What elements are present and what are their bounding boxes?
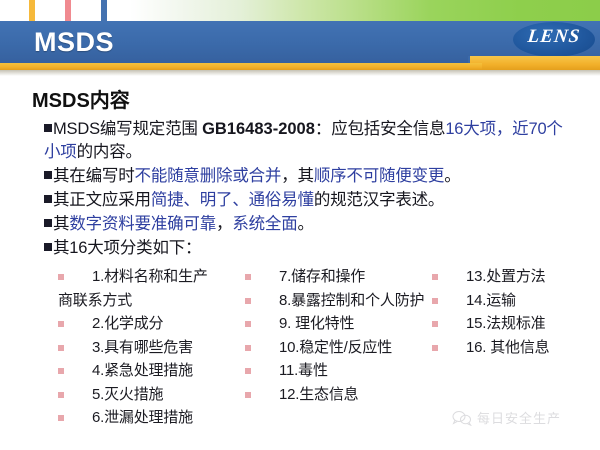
strip-bar-orange [29, 0, 35, 21]
category-column-1: 1.材料名称和生产商联系方式2.化学成分3.具有哪些危害4.紧急处理措施5.灭火… [58, 265, 248, 430]
list-item-label: 15.法规标准 [466, 315, 545, 332]
bullet-square-icon [44, 219, 52, 227]
list-item: 14.运输 [432, 289, 600, 313]
list-item: 12.生态信息 [245, 383, 440, 407]
bullet-accurate-data: 其数字资料要准确可靠，系统全面。 [44, 213, 564, 236]
lens-logo-text: LENS [512, 26, 596, 48]
slide-root: MSDS LENS MSDS内容 MSDS编写规定范围 GB16483-2008… [0, 0, 600, 450]
bullet-text-segment: 其正文应采用 [53, 191, 151, 209]
list-bullet-icon [58, 368, 64, 374]
list-bullet-icon [245, 274, 251, 280]
list-item-label: 12.生态信息 [279, 386, 358, 403]
bullet-text-segment: 其在编写时 [53, 167, 135, 185]
bullet-text-segment: GB16483-2008 [202, 120, 315, 138]
list-bullet-icon [58, 415, 64, 421]
banner-shadow [0, 70, 600, 76]
list-bullet-icon [245, 368, 251, 374]
list-item: 15.法规标准 [432, 312, 600, 336]
list-item-label: 4.紧急处理措施 [92, 362, 193, 379]
bullet-text-segment: 的内容。 [77, 143, 142, 161]
bullet-text-segment: 其 [53, 215, 69, 233]
bullet-text-segment: 的规范汉字表述。 [314, 191, 444, 209]
category-column-2: 7.储存和操作8.暴露控制和个人防护9. 理化特性10.稳定性/反应性11.毒性… [245, 265, 440, 406]
bullet-sixteen-categories: 其16大项分类如下： [44, 237, 564, 260]
bullet-text-segment: ：应包括安全信息 [315, 120, 445, 138]
bullet-text-segment: 系统全面 [232, 215, 297, 233]
list-item-continuation: 商联系方式 [58, 289, 248, 313]
list-item: 6.泄漏处理措施 [58, 406, 248, 430]
list-item: 3.具有哪些危害 [58, 336, 248, 360]
list-bullet-icon [58, 274, 64, 280]
list-bullet-icon [432, 321, 438, 327]
list-item: 4.紧急处理措施 [58, 359, 248, 383]
list-item-label: 14.运输 [466, 292, 516, 309]
list-item: 13.处置方法 [432, 265, 600, 289]
list-item: 7.储存和操作 [245, 265, 440, 289]
bullet-square-icon [44, 171, 52, 179]
bullet-plain-chinese: 其正文应采用简捷、明了、通俗易懂的规范汉字表述。 [44, 189, 564, 212]
watermark: 每日安全生产 [452, 408, 561, 427]
bullet-text-segment: ，其 [281, 167, 314, 185]
gold-band-right [470, 56, 600, 70]
bullet-text-segment: 。 [298, 215, 314, 233]
bullet-text-segment: MSDS编写规定范围 [53, 120, 202, 138]
list-item: 10.稳定性/反应性 [245, 336, 440, 360]
list-item-label: 8.暴露控制和个人防护 [279, 292, 424, 309]
list-item-label: 1.材料名称和生产 [92, 268, 208, 285]
category-column-3: 13.处置方法14.运输15.法规标准16. 其他信息 [432, 265, 600, 359]
list-bullet-icon [245, 345, 251, 351]
list-item: 8.暴露控制和个人防护 [245, 289, 440, 313]
bullet-square-icon [44, 243, 52, 251]
bullet-square-icon [44, 195, 52, 203]
bullet-no-delete: 其在编写时不能随意删除或合并，其顺序不可随便变更。 [44, 165, 564, 188]
list-item-label: 5.灭火措施 [92, 386, 163, 403]
list-item: 9. 理化特性 [245, 312, 440, 336]
list-item-label: 2.化学成分 [92, 315, 163, 332]
bullet-text-segment: 不能随意删除或合并 [135, 167, 282, 185]
bullet-text-segment: 简捷、明了、通俗易懂 [151, 191, 314, 209]
wechat-icon [452, 410, 472, 426]
bullet-square-icon [44, 124, 52, 132]
watermark-text: 每日安全生产 [477, 408, 561, 427]
list-item: 5.灭火措施 [58, 383, 248, 407]
strip-bar-blue [101, 0, 107, 21]
bullet-text-segment: 。 [444, 167, 460, 185]
list-item: 2.化学成分 [58, 312, 248, 336]
list-bullet-icon [58, 321, 64, 327]
list-item: 16. 其他信息 [432, 336, 600, 360]
list-bullet-icon [245, 298, 251, 304]
gold-band-left [0, 63, 482, 70]
list-bullet-icon [58, 345, 64, 351]
list-item-label: 7.储存和操作 [279, 268, 365, 285]
list-bullet-icon [245, 392, 251, 398]
bullet-scope: MSDS编写规定范围 GB16483-2008：应包括安全信息16大项，近70个… [44, 118, 564, 164]
list-item-label: 10.稳定性/反应性 [279, 339, 392, 356]
list-item-label: 11.毒性 [279, 362, 328, 379]
bullet-text-segment: 数字资料要准确可靠 [69, 215, 216, 233]
list-bullet-icon [58, 392, 64, 398]
list-bullet-icon [245, 321, 251, 327]
category-columns: 1.材料名称和生产商联系方式2.化学成分3.具有哪些危害4.紧急处理措施5.灭火… [40, 265, 600, 425]
list-bullet-icon [432, 274, 438, 280]
bullet-text-segment: 其16大项分类如下： [53, 239, 201, 257]
list-item-label: 6.泄漏处理措施 [92, 409, 193, 426]
page-title: MSDS内容 [32, 84, 130, 113]
bullet-text-segment: ， [216, 215, 232, 233]
list-item: 11.毒性 [245, 359, 440, 383]
top-color-strip [0, 0, 600, 21]
page-banner-title: MSDS [34, 24, 114, 60]
list-item-label: 16. 其他信息 [466, 339, 549, 356]
bullet-text-segment: 顺序不可随便变更 [314, 167, 444, 185]
list-item: 1.材料名称和生产 [58, 265, 248, 289]
list-bullet-icon [432, 298, 438, 304]
strip-bar-pink [65, 0, 71, 21]
list-item-label: 3.具有哪些危害 [92, 339, 193, 356]
list-item-label: 9. 理化特性 [279, 315, 354, 332]
bullet-list: MSDS编写规定范围 GB16483-2008：应包括安全信息16大项，近70个… [44, 118, 564, 261]
list-bullet-icon [432, 345, 438, 351]
list-item-label: 13.处置方法 [466, 268, 545, 285]
